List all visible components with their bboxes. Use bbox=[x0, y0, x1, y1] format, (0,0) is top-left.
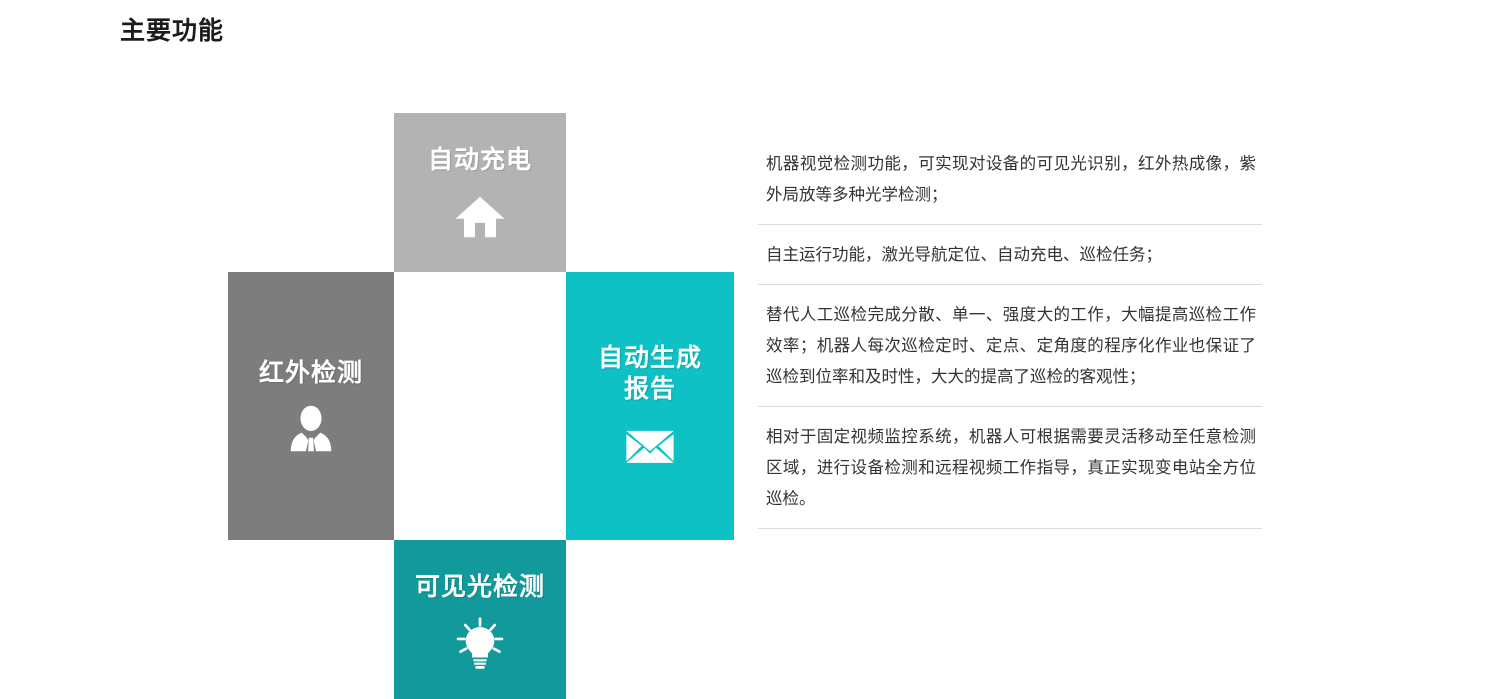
description-item: 机器视觉检测功能，可实现对设备的可见光识别，红外热成像，紫外局放等多种光学检测； bbox=[758, 148, 1262, 225]
description-text: 机器视觉检测功能，可实现对设备的可见光识别，红外热成像，紫外局放等多种光学检测； bbox=[758, 148, 1262, 210]
description-item: 自主运行功能，激光导航定位、自动充电、巡检任务； bbox=[758, 239, 1262, 285]
description-text: 相对于固定视频监控系统，机器人可根据需要灵活移动至任意检测区域，进行设备检测和远… bbox=[758, 421, 1262, 514]
tile-auto-report[interactable]: 自动生成 报告 bbox=[566, 272, 734, 540]
tile-visible-light-detection[interactable]: 可见光检测 bbox=[394, 540, 566, 699]
description-item: 相对于固定视频监控系统，机器人可根据需要灵活移动至任意检测区域，进行设备检测和远… bbox=[758, 421, 1262, 529]
tile-auto-charging[interactable]: 自动充电 bbox=[394, 113, 566, 272]
tile-infrared-detection[interactable]: 红外检测 bbox=[228, 272, 394, 540]
tile-infrared-detection-label: 红外检测 bbox=[259, 358, 363, 389]
home-icon bbox=[453, 190, 507, 244]
tile-visible-light-detection-label: 可见光检测 bbox=[415, 572, 545, 603]
description-text: 自主运行功能，激光导航定位、自动充电、巡检任务； bbox=[758, 239, 1262, 270]
person-icon bbox=[284, 404, 338, 458]
description-list: 机器视觉检测功能，可实现对设备的可见光识别，红外热成像，紫外局放等多种光学检测；… bbox=[758, 148, 1262, 529]
envelope-icon bbox=[623, 419, 677, 473]
feature-tile-grid: 自动充电 红外检测 自动生成 报告 bbox=[228, 113, 734, 586]
tile-auto-report-label: 自动生成 报告 bbox=[598, 343, 702, 406]
tile-auto-charging-label: 自动充电 bbox=[428, 145, 532, 176]
page-title: 主要功能 bbox=[120, 16, 224, 46]
lightbulb-icon bbox=[453, 617, 507, 671]
description-item: 替代人工巡检完成分散、单一、强度大的工作，大幅提高巡检工作效率；机器人每次巡检定… bbox=[758, 299, 1262, 407]
description-text: 替代人工巡检完成分散、单一、强度大的工作，大幅提高巡检工作效率；机器人每次巡检定… bbox=[758, 299, 1262, 392]
